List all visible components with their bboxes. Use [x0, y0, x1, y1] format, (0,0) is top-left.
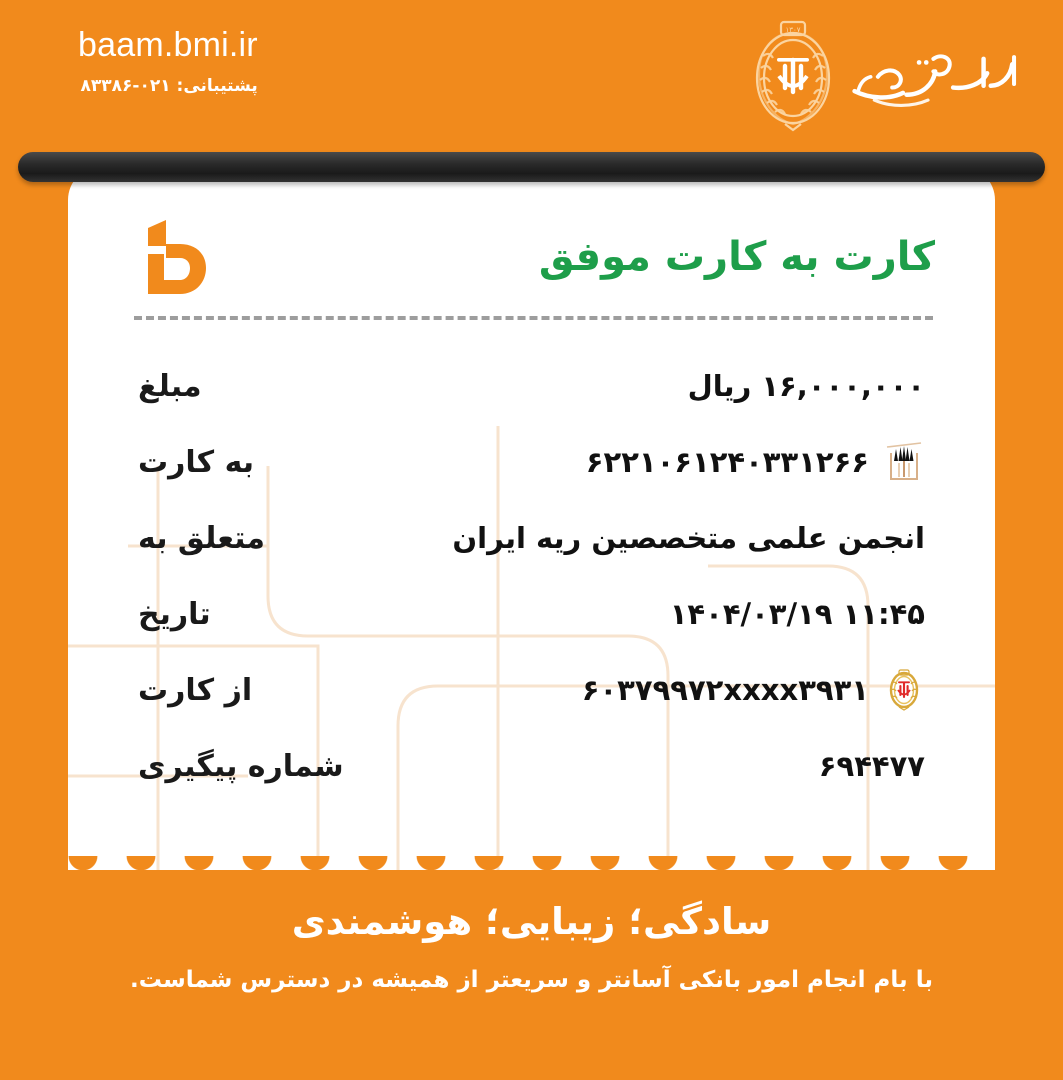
receipt-card: کارت به کارت موفق مبلغ ۱۶,۰۰۰,۰۰۰ ریال ب… [68, 166, 995, 872]
footer-subtagline: با بام انجام امور بانکی آسانتر و سریعتر … [0, 966, 1063, 996]
receipt-scalloped-edge [68, 856, 995, 890]
row-value-tracking-number: ۶۹۴۴۷۷ [819, 749, 925, 783]
row-label-date: تاریخ [138, 597, 211, 632]
svg-text:۱۳۰۷: ۱۳۰۷ [785, 26, 800, 34]
row-value-date: ۱۴۰۴/۰۳/۱۹ ۱۱:۴۵ [670, 597, 925, 631]
row-label-recipient: متعلق به [138, 521, 265, 556]
row-label-amount: مبلغ [138, 369, 202, 404]
receipt-row-date: تاریخ ۱۴۰۴/۰۳/۱۹ ۱۱:۴۵ [138, 576, 925, 652]
source-card-value: ۶۰۳۷۹۹۷۲xxxx۳۹۳۱ [582, 673, 869, 707]
receipt-row-source-card: از کارت ۶۰۳۷۹۹۷۲xxxx۳۹۳۱ [138, 652, 925, 728]
receipt-row-recipient: متعلق به انجمن علمی متخصصین ریه ایران [138, 500, 925, 576]
receipt-row-amount: مبلغ ۱۶,۰۰۰,۰۰۰ ریال [138, 348, 925, 424]
receipt-detail-rows: مبلغ ۱۶,۰۰۰,۰۰۰ ریال به کارت ۶۲۲۱۰۶۱۲۴۰۳… [68, 320, 995, 804]
receipt-header: کارت به کارت موفق [68, 166, 995, 306]
amount-value: ۱۶,۰۰۰,۰۰۰ ریال [688, 369, 925, 403]
row-value-destination-card: ۶۲۲۱۰۶۱۲۴۰۳۳۱۲۶۶ [586, 441, 925, 483]
receipt-body: کارت به کارت موفق مبلغ ۱۶,۰۰۰,۰۰۰ ریال ب… [68, 166, 995, 872]
row-value-recipient: انجمن علمی متخصصین ریه ایران [452, 521, 925, 555]
row-value-amount: ۱۶,۰۰۰,۰۰۰ ریال [688, 369, 925, 403]
destination-card-value: ۶۲۲۱۰۶۱۲۴۰۳۳۱۲۶۶ [586, 445, 869, 479]
brand-block: baam.bmi.ir پشتیبانی: ۰۲۱-۸۳۳۸۶ [78, 28, 258, 96]
row-value-source-card: ۶۰۳۷۹۹۷۲xxxx۳۹۳۱ [582, 669, 925, 711]
support-line: پشتیبانی: ۰۲۱-۸۳۳۸۶ [78, 76, 258, 96]
site-url: baam.bmi.ir [78, 28, 258, 64]
recipient-name-value: انجمن علمی متخصصین ریه ایران [452, 521, 925, 555]
dashed-divider [134, 316, 933, 320]
footer-tagline: سادگی؛ زیبایی؛ هوشمندی [0, 900, 1063, 944]
row-label-source-card: از کارت [138, 673, 252, 708]
bank-melli-branding: ۱۳۰۷ [745, 16, 1027, 134]
receipt-row-tracking-number: شماره پیگیری ۶۹۴۴۷۷ [138, 728, 925, 804]
row-label-tracking-number: شماره پیگیری [138, 749, 344, 784]
bank-melli-icon [883, 669, 925, 711]
page-footer: سادگی؛ زیبایی؛ هوشمندی با بام انجام امور… [0, 900, 1063, 996]
row-label-destination-card: به کارت [138, 445, 254, 480]
date-time-value: ۱۴۰۴/۰۳/۱۹ ۱۱:۴۵ [670, 597, 925, 631]
tracking-number-value: ۶۹۴۴۷۷ [819, 749, 925, 783]
printer-slot-bar [18, 152, 1045, 182]
baam-logo-icon [138, 214, 212, 300]
page-header: baam.bmi.ir پشتیبانی: ۰۲۱-۸۳۳۸۶ [0, 0, 1063, 148]
bank-melli-wordmark-icon [847, 32, 1027, 118]
bank-melli-emblem-icon: ۱۳۰۷ [745, 16, 841, 134]
parsian-bank-icon [883, 441, 925, 483]
receipt-row-destination-card: به کارت ۶۲۲۱۰۶۱۲۴۰۳۳۱۲۶۶ [138, 424, 925, 500]
transaction-status-title: کارت به کارت موفق [539, 234, 935, 280]
